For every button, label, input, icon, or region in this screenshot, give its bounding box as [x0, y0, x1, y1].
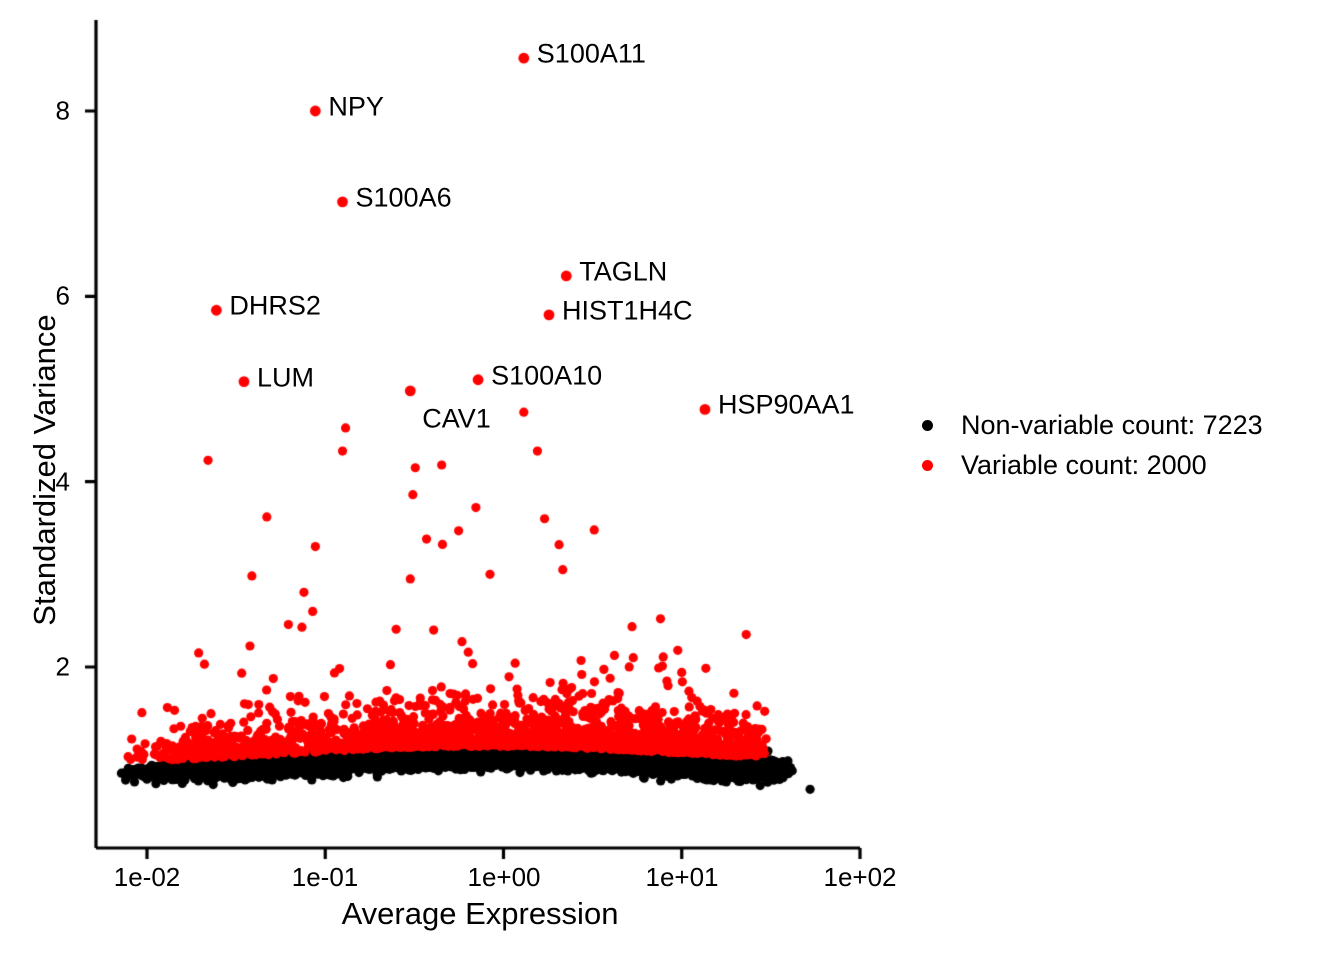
gene-label-tagln: TAGLN: [579, 256, 667, 287]
gene-label-s100a10: S100A10: [491, 360, 602, 391]
x-tick-label-5: 1e+02: [823, 862, 896, 893]
legend-label-non-variable: Non-variable count: 7223: [949, 410, 1263, 441]
x-tick-label-2: 1e-01: [292, 862, 359, 893]
legend-item-non-variable: Non-variable count: 7223: [905, 405, 1263, 445]
x-axis-title: Average Expression: [0, 896, 960, 932]
x-tick-label-4: 1e+01: [645, 862, 718, 893]
legend-label-variable: Variable count: 2000: [949, 450, 1207, 481]
x-tick-label-1: 1e-02: [114, 862, 181, 893]
gene-label-s100a11: S100A11: [537, 39, 646, 70]
legend: Non-variable count: 7223 Variable count:…: [905, 405, 1263, 485]
gene-label-npy: NPY: [328, 92, 384, 123]
black-dot-icon: [905, 420, 949, 431]
gene-label-s100a6: S100A6: [356, 182, 452, 213]
gene-label-hist1h4c: HIST1H4C: [562, 295, 693, 326]
legend-item-variable: Variable count: 2000: [905, 445, 1263, 485]
gene-label-lum: LUM: [257, 362, 314, 393]
red-dot-icon: [905, 460, 949, 471]
gene-label-dhrs2: DHRS2: [229, 291, 321, 322]
x-tick-label-3: 1e+00: [467, 862, 540, 893]
variable-feature-plot: 1e-02 1e-01 1e+00 1e+01 1e+02 2 4 6 8 Av…: [0, 0, 1344, 960]
gene-label-cav1: CAV1: [422, 403, 491, 434]
y-axis-title: Standardized Variance: [27, 210, 63, 730]
gene-label-hsp90aa1: HSP90AA1: [718, 390, 855, 421]
y-tick-label-8: 8: [20, 96, 70, 127]
